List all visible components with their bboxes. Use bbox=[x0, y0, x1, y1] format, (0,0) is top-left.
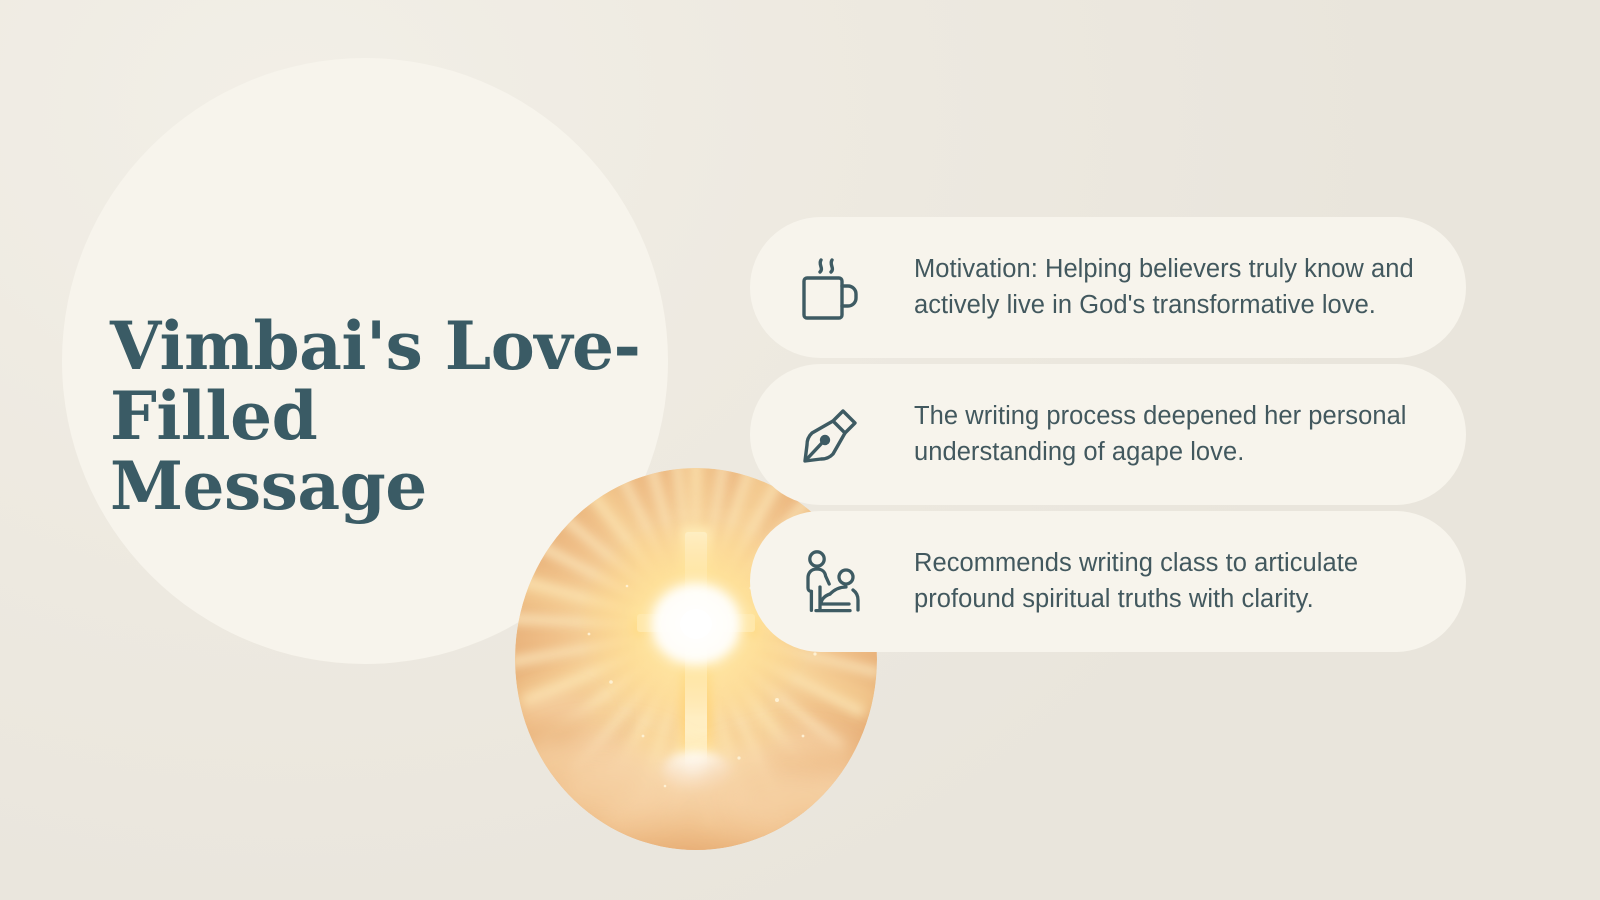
list-item[interactable]: The writing process deepened her persona… bbox=[750, 364, 1466, 505]
coffee-mug-icon bbox=[798, 252, 864, 324]
pen-nib-icon bbox=[798, 399, 864, 471]
title-block: Vimbai's Love- Filled Message bbox=[110, 312, 650, 522]
list-item[interactable]: Recommends writing class to articulate p… bbox=[750, 511, 1466, 652]
list-item-text: The writing process deepened her persona… bbox=[914, 399, 1426, 469]
page-title: Vimbai's Love- Filled Message bbox=[110, 312, 650, 522]
list-item[interactable]: Motivation: Helping believers truly know… bbox=[750, 217, 1466, 358]
mentor-teaching-icon bbox=[798, 546, 864, 618]
slide-canvas: Vimbai's Love- Filled Message bbox=[0, 0, 1600, 900]
list-item-text: Motivation: Helping believers truly know… bbox=[914, 252, 1426, 322]
list-item-text: Recommends writing class to articulate p… bbox=[914, 546, 1426, 616]
